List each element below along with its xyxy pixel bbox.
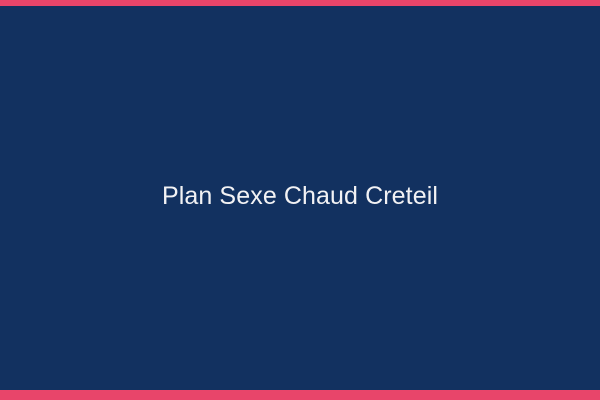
page-title: Plan Sexe Chaud Creteil bbox=[0, 182, 600, 211]
bottom-accent-bar bbox=[0, 390, 600, 400]
placeholder-card: Plan Sexe Chaud Creteil bbox=[0, 0, 600, 400]
placeholder-body: Plan Sexe Chaud Creteil bbox=[0, 6, 600, 390]
